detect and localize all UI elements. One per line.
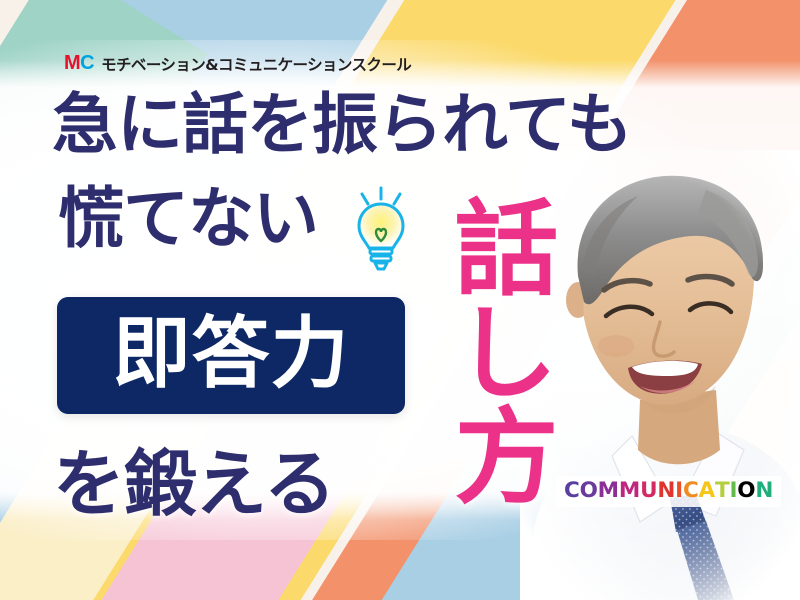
wordmark-letter-1: O bbox=[580, 480, 598, 502]
brand-logo[interactable]: M C モチベーション&コミュニケーションスクール bbox=[64, 52, 411, 75]
headline-line-1: 急に話を振られても bbox=[52, 92, 632, 158]
wordmark-letter-3: M bbox=[619, 480, 640, 502]
wordmark-letter-11: O bbox=[737, 480, 755, 502]
lightbulb-icon bbox=[348, 186, 414, 272]
logo-school-name: モチベーション&コミュニケーションスクール bbox=[101, 53, 411, 75]
instructor-portrait bbox=[520, 150, 800, 600]
communication-wordmark: COMMUNICATION bbox=[556, 476, 781, 507]
emphasis-box: 即答力 bbox=[57, 297, 405, 414]
wordmark-letter-9: T bbox=[715, 480, 729, 502]
wordmark-letter-0: C bbox=[564, 480, 580, 502]
logo-letter-m: M bbox=[64, 52, 80, 75]
wordmark-letter-6: I bbox=[675, 480, 683, 502]
headline-line-2: 慌てない bbox=[58, 186, 318, 252]
wordmark-letter-7: C bbox=[683, 480, 699, 502]
wordmark-letter-2: M bbox=[598, 480, 619, 502]
wordmark-letter-8: A bbox=[699, 480, 715, 502]
communication-letters: COMMUNICATION bbox=[564, 480, 773, 502]
wordmark-letter-10: I bbox=[729, 480, 737, 502]
headline-line-3: を鍛える bbox=[53, 448, 335, 520]
wordmark-letter-12: N bbox=[755, 480, 773, 502]
logo-letter-c: C bbox=[80, 52, 94, 75]
wordmark-letter-4: U bbox=[640, 480, 657, 502]
promo-banner: M C モチベーション&コミュニケーションスクール 急に話を振られても 慌てない bbox=[0, 0, 800, 600]
wordmark-letter-5: N bbox=[657, 480, 675, 502]
emphasis-box-label: 即答力 bbox=[112, 315, 349, 393]
vertical-keyword: 話し方 bbox=[424, 194, 548, 514]
